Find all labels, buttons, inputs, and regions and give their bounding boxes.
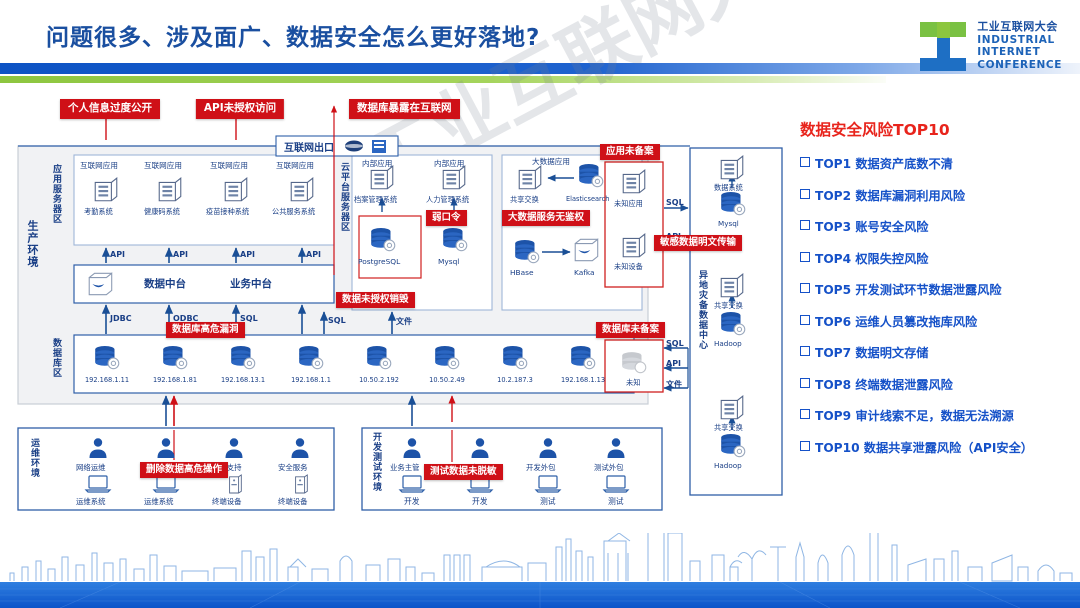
risk-item-label: TOP9 审计线索不足，数据无法溯源: [815, 406, 1014, 424]
unknown-db-label: 未知: [626, 378, 640, 388]
callout-bigdata-no-auth: 大数据服务无鉴权: [502, 210, 590, 226]
unknown-app-label: 未知应用: [614, 199, 643, 209]
internet-app-tag-3: 互联网应用: [210, 160, 248, 171]
internet-app-label-1: 考勤系统: [84, 207, 113, 217]
risk-item-label: TOP6 运维人员篡改拖库风险: [815, 312, 977, 330]
dr-in-sql: SQL: [666, 339, 684, 348]
callout-test-data-not-masked: 测试数据未脱敏: [424, 464, 503, 480]
dr-app-label-1: 数据系统: [714, 183, 743, 193]
risk-item-5[interactable]: TOP5 开发测试环节数据泄露风险: [800, 280, 1070, 298]
db-ip-4: 192.168.1.1: [281, 376, 341, 384]
risk-item-label: TOP2 数据库漏洞利用风险: [815, 186, 965, 204]
callout-db-not-filed: 数据库未备案: [596, 322, 665, 338]
checkbox-icon[interactable]: [800, 252, 810, 262]
risk-item-label: TOP1 数据资产底数不清: [815, 154, 953, 172]
devtest-device-3: 测试: [540, 496, 556, 507]
db-ip-8: 192.168.1.13: [553, 376, 613, 384]
devtest-role-3: 开发外包: [526, 462, 556, 473]
flow-api-4: API: [306, 250, 321, 259]
devtest-device-1: 开发: [404, 496, 420, 507]
bigdata-store-1: HBase: [510, 268, 534, 277]
architecture-diagram: 个人信息过度公开 API未授权访问 数据库暴露在互联网 互联网出口 生产环境 应…: [14, 100, 794, 525]
devtest-device-4: 测试: [608, 496, 624, 507]
checkbox-icon[interactable]: [800, 189, 810, 199]
callout-delete-data-high-risk: 删除数据高危操作: [140, 462, 228, 478]
logo-en-line1: INDUSTRIAL: [977, 34, 1062, 47]
flow-cloud-sql: SQL: [328, 316, 346, 325]
db-ip-1: 192.168.1.11: [77, 376, 137, 384]
checkbox-icon[interactable]: [800, 378, 810, 388]
callout-plaintext-transfer: 敏感数据明文传输: [654, 235, 742, 251]
flow-jdbc: JDBC: [110, 314, 132, 323]
zone-label-dr-center: 异地灾备数据中心: [696, 270, 709, 350]
zone-label-devtest: 开发测试环境: [370, 432, 383, 492]
internet-app-tag-4: 互联网应用: [276, 160, 314, 171]
internal-app-label-1: 档案管理系统: [354, 195, 397, 205]
middleware-data-platform: 数据中台: [144, 276, 186, 291]
bigdata-store-2: Kafka: [574, 268, 595, 277]
internet-app-tag-1: 互联网应用: [80, 160, 118, 171]
checkbox-icon[interactable]: [800, 283, 810, 293]
internet-app-label-3: 疫苗接种系统: [206, 207, 249, 217]
dr-in-api: API: [666, 359, 681, 368]
callout-db-exposed: 数据库暴露在互联网: [349, 99, 460, 119]
bigdata-label-1: 共享交换: [510, 195, 539, 205]
header-rule-green: [0, 76, 886, 83]
zone-label-app-server: 应用服务器区: [50, 164, 63, 224]
checkbox-icon[interactable]: [800, 409, 810, 419]
internal-app-tag-2: 内部应用: [434, 158, 464, 169]
internal-db-label-2: Mysql: [438, 257, 459, 266]
dr-db-label-1: Mysql: [718, 219, 739, 228]
risk-item-10[interactable]: TOP10 数据共享泄露风险（API安全）: [800, 438, 1070, 456]
logo-mark-icon: [918, 20, 970, 72]
callout-api-unauthorized: API未授权访问: [196, 99, 284, 119]
callout-app-not-filed: 应用未备案: [600, 144, 660, 160]
dr-in-file: 文件: [666, 379, 682, 390]
internet-app-label-2: 健康码系统: [144, 207, 180, 217]
risk-panel-title: 数据安全风险TOP10: [800, 118, 1070, 140]
flow-api-3: API: [240, 250, 255, 259]
db-ip-6: 10.50.2.49: [417, 376, 477, 384]
logo-cn-text: 工业互联网大会: [977, 20, 1062, 33]
page-title: 问题很多、涉及面广、数据安全怎么更好落地?: [46, 18, 540, 52]
bigdata-label-2: Elasticsearch: [566, 195, 609, 203]
callout-db-high-vuln: 数据库高危漏洞: [166, 322, 245, 338]
callout-data-unauth-destroy: 数据未授权销毁: [336, 292, 415, 308]
risk-item-8[interactable]: TOP8 终端数据泄露风险: [800, 375, 1070, 393]
checkbox-icon[interactable]: [800, 346, 810, 356]
risk-item-4[interactable]: TOP4 权限失控风险: [800, 249, 1070, 267]
risk-item-9[interactable]: TOP9 审计线索不足，数据无法溯源: [800, 406, 1070, 424]
checkbox-icon[interactable]: [800, 220, 810, 230]
checkbox-icon[interactable]: [800, 315, 810, 325]
ops-device-3: 终端设备: [212, 496, 242, 507]
ops-role-1: 网络运维: [76, 462, 106, 473]
internet-exit-label: 互联网出口: [284, 139, 334, 154]
zone-label-cloud-server: 云平台服务器区: [338, 162, 351, 232]
ops-role-4: 安全服务: [278, 462, 308, 473]
internal-app-label-2: 人力管理系统: [426, 195, 469, 205]
risk-item-6[interactable]: TOP6 运维人员篡改拖库风险: [800, 312, 1070, 330]
ops-device-4: 终端设备: [278, 496, 308, 507]
checkbox-icon[interactable]: [800, 157, 810, 167]
risk-item-7[interactable]: TOP7 数据明文存储: [800, 343, 1070, 361]
risk-panel: 数据安全风险TOP10 TOP1 数据资产底数不清 TOP2 数据库漏洞利用风险…: [800, 118, 1070, 469]
zone-label-production: 生产环境: [24, 220, 40, 268]
middleware-business-platform: 业务中台: [230, 276, 272, 291]
logo-en-line2: INTERNET: [977, 46, 1062, 59]
internet-app-label-4: 公共服务系统: [272, 207, 315, 217]
risk-item-3[interactable]: TOP3 账号安全风险: [800, 217, 1070, 235]
bigdata-tag: 大数据应用: [532, 156, 570, 167]
risk-item-2[interactable]: TOP2 数据库漏洞利用风险: [800, 186, 1070, 204]
dr-db-label-3: Hadoop: [714, 461, 742, 470]
dr-db-label-2: Hadoop: [714, 339, 742, 348]
ops-device-2: 运维系统: [144, 496, 174, 507]
ops-device-1: 运维系统: [76, 496, 106, 507]
risk-item-label: TOP5 开发测试环节数据泄露风险: [815, 280, 1002, 298]
dr-out-sql: SQL: [666, 198, 684, 207]
internet-app-tag-2: 互联网应用: [144, 160, 182, 171]
db-ip-7: 10.2.187.3: [485, 376, 545, 384]
risk-item-label: TOP7 数据明文存储: [815, 343, 928, 361]
callout-personal-info: 个人信息过度公开: [60, 99, 160, 119]
devtest-role-4: 测试外包: [594, 462, 624, 473]
db-ip-2: 192.168.1.81: [145, 376, 205, 384]
callout-weak-password: 弱口令: [426, 210, 467, 226]
risk-item-1[interactable]: TOP1 数据资产底数不清: [800, 154, 1070, 172]
internal-db-label-1: PostgreSQL: [358, 257, 400, 266]
checkbox-icon[interactable]: [800, 441, 810, 451]
db-ip-3: 192.168.13.1: [213, 376, 273, 384]
zone-label-database: 数据库区: [50, 338, 63, 378]
logo-en-line3: CONFERENCE: [977, 59, 1062, 72]
unknown-device-label: 未知设备: [614, 262, 643, 272]
dr-app-label-2: 共享交换: [714, 301, 743, 311]
city-skyline-decoration: [0, 533, 1080, 608]
risk-item-label: TOP3 账号安全风险: [815, 217, 928, 235]
flow-api-1: API: [110, 250, 125, 259]
risk-item-label: TOP10 数据共享泄露风险（API安全）: [815, 438, 1033, 456]
db-ip-5: 10.50.2.192: [349, 376, 409, 384]
flow-api-2: API: [173, 250, 188, 259]
devtest-role-1: 业务主管: [390, 462, 420, 473]
devtest-device-2: 开发: [472, 496, 488, 507]
zone-label-ops: 运维环境: [28, 438, 41, 478]
dr-app-label-3: 共享交换: [714, 423, 743, 433]
conference-logo: 工业互联网大会 INDUSTRIAL INTERNET CONFERENCE: [918, 20, 1062, 72]
risk-item-label: TOP4 权限失控风险: [815, 249, 928, 267]
risk-item-label: TOP8 终端数据泄露风险: [815, 375, 953, 393]
flow-cloud-file: 文件: [396, 316, 412, 327]
internal-app-tag-1: 内部应用: [362, 158, 392, 169]
